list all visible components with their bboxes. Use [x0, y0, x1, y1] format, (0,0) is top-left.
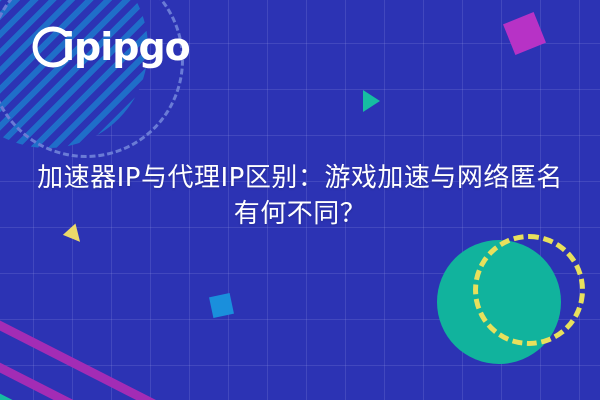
teal-triangle-decoration [363, 90, 380, 112]
banner-headline: 加速器IP与代理IP区别：游戏加速与网络匿名有何不同？ [0, 161, 600, 233]
magenta-diagonal-line-2 [0, 356, 291, 400]
promo-banner: ipipgo 加速器IP与代理IP区别：游戏加速与网络匿名有何不同？ [0, 0, 600, 400]
yellow-dashed-ring-decoration [473, 234, 585, 346]
magenta-square-decoration [503, 12, 546, 55]
brand-logo: ipipgo [28, 18, 190, 76]
blue-square-decoration [209, 293, 234, 318]
logo-wordmark: ipipgo [62, 28, 190, 66]
